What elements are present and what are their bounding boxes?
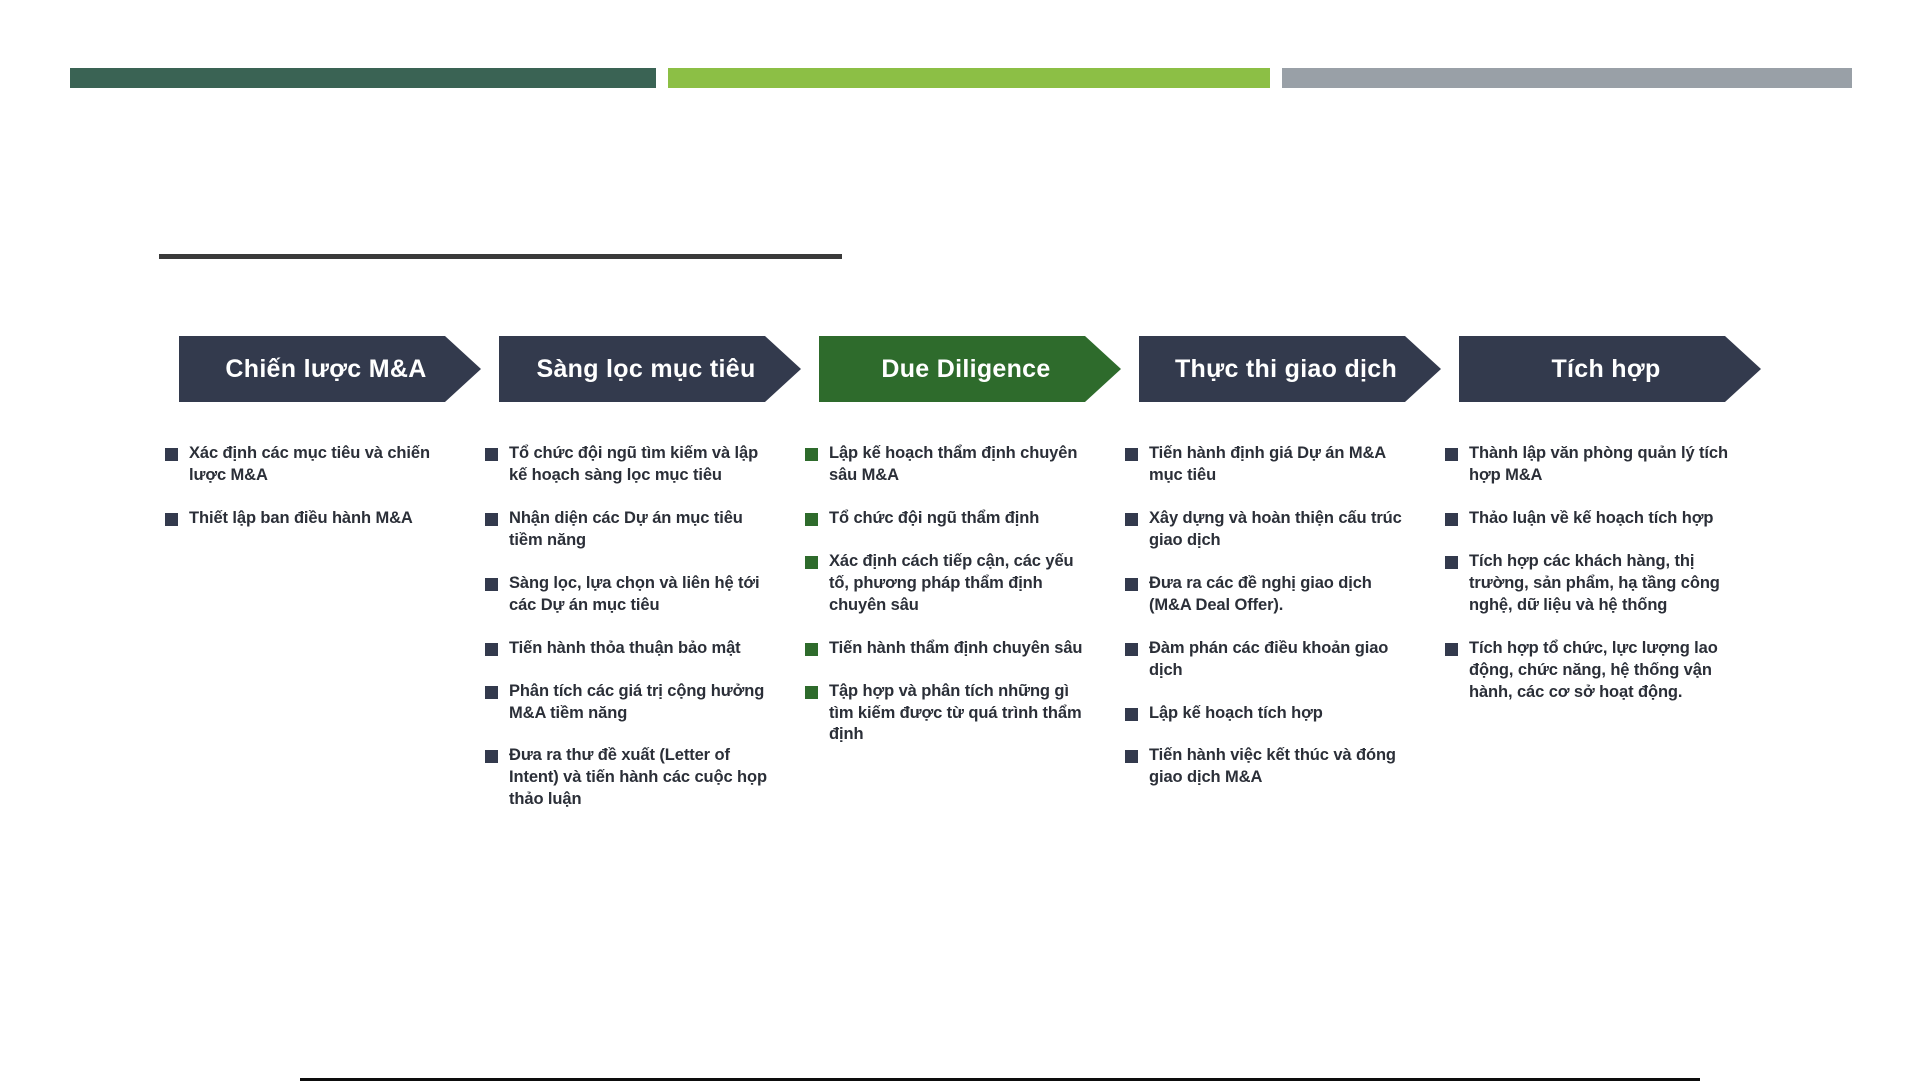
bullet-square-icon [1445, 513, 1458, 526]
bullet-item: Xác định cách tiếp cận, các yếu tố, phươ… [805, 551, 1095, 617]
bullet-item: Thảo luận về kế hoạch tích hợp [1445, 508, 1735, 530]
bullet-square-icon [1125, 643, 1138, 656]
bullet-square-icon [805, 686, 818, 699]
bullet-item-label: Tiến hành thẩm định chuyên sâu [829, 638, 1095, 660]
bullet-square-icon [485, 448, 498, 461]
bullet-item-label: Xác định cách tiếp cận, các yếu tố, phươ… [829, 551, 1095, 617]
process-stage-chevron-0[interactable]: Chiến lược M&A [165, 336, 481, 402]
bullet-column-2: Lập kế hoạch thẩm định chuyên sâu M&ATổ … [805, 443, 1095, 767]
bullet-square-icon [1445, 643, 1458, 656]
bullet-item-label: Tổ chức đội ngũ thẩm định [829, 508, 1095, 530]
bullet-item: Tổ chức đội ngũ tìm kiếm và lập kế hoạch… [485, 443, 775, 487]
bullet-item: Tiến hành thẩm định chuyên sâu [805, 638, 1095, 660]
bullet-item-label: Đưa ra các đề nghị giao dịch (M&A Deal O… [1149, 573, 1415, 617]
process-stage-chevron-row: Chiến lược M&A Sàng lọc mục tiêu Due Dil… [165, 336, 1765, 402]
bullet-square-icon [1125, 448, 1138, 461]
bullet-item-label: Thiết lập ban điều hành M&A [189, 508, 455, 530]
title-underline-rule [159, 254, 842, 259]
bullet-item: Thiết lập ban điều hành M&A [165, 508, 455, 530]
bullet-item: Lập kế hoạch thẩm định chuyên sâu M&A [805, 443, 1095, 487]
bullet-square-icon [485, 513, 498, 526]
bullet-item: Xác định các mục tiêu và chiến lược M&A [165, 443, 455, 487]
bullet-item-label: Phân tích các giá trị cộng hưởng M&A tiề… [509, 681, 775, 725]
bullet-item: Tập hợp và phân tích những gì tìm kiếm đ… [805, 681, 1095, 747]
bullet-square-icon [1445, 448, 1458, 461]
bullet-square-icon [1125, 708, 1138, 721]
bullet-square-icon [805, 643, 818, 656]
bullet-item: Tổ chức đội ngũ thẩm định [805, 508, 1095, 530]
bullet-item: Tiến hành định giá Dự án M&A mục tiêu [1125, 443, 1415, 487]
bullet-item: Đưa ra các đề nghị giao dịch (M&A Deal O… [1125, 573, 1415, 617]
bullet-item-label: Tích hợp tổ chức, lực lượng lao động, ch… [1469, 638, 1735, 704]
dark-green-accent-bar [70, 68, 656, 88]
process-stage-chevron-4[interactable]: Tích hợp [1445, 336, 1761, 402]
bullet-item-label: Nhận diện các Dự án mục tiêu tiềm năng [509, 508, 775, 552]
bullet-column-1: Tổ chức đội ngũ tìm kiếm và lập kế hoạch… [485, 443, 775, 832]
bullet-square-icon [165, 448, 178, 461]
process-stage-label-4: Tích hợp [1545, 355, 1660, 384]
bullet-item: Tiến hành việc kết thúc và đóng giao dịc… [1125, 745, 1415, 789]
bullet-square-icon [165, 513, 178, 526]
bullet-column-3: Tiến hành định giá Dự án M&A mục tiêuXây… [1125, 443, 1415, 810]
bullet-square-icon [805, 448, 818, 461]
bullet-item: Phân tích các giá trị cộng hưởng M&A tiề… [485, 681, 775, 725]
bullet-item-label: Lập kế hoạch tích hợp [1149, 703, 1415, 725]
bullet-item-label: Tích hợp các khách hàng, thị trường, sản… [1469, 551, 1735, 617]
bullet-item-label: Đưa ra thư đề xuất (Letter of Intent) và… [509, 745, 775, 811]
bullet-square-icon [1125, 750, 1138, 763]
bullet-square-icon [485, 750, 498, 763]
process-stage-chevron-1[interactable]: Sàng lọc mục tiêu [485, 336, 801, 402]
light-green-accent-bar [668, 68, 1270, 88]
bullet-square-icon [805, 513, 818, 526]
bullet-item-label: Tổ chức đội ngũ tìm kiếm và lập kế hoạch… [509, 443, 775, 487]
process-stage-label-2: Due Diligence [875, 355, 1050, 384]
bullet-item: Sàng lọc, lựa chọn và liên hệ tới các Dự… [485, 573, 775, 617]
bullet-item: Đàm phán các điều khoản giao dịch [1125, 638, 1415, 682]
top-accent-bar-group [0, 68, 1921, 88]
bullet-item-label: Tiến hành thỏa thuận bảo mật [509, 638, 775, 660]
bullet-item-label: Xác định các mục tiêu và chiến lược M&A [189, 443, 455, 487]
bullet-item-label: Đàm phán các điều khoản giao dịch [1149, 638, 1415, 682]
bullet-item: Nhận diện các Dự án mục tiêu tiềm năng [485, 508, 775, 552]
bullet-item-label: Thảo luận về kế hoạch tích hợp [1469, 508, 1735, 530]
bullet-item-label: Xây dựng và hoàn thiện cấu trúc giao dịc… [1149, 508, 1415, 552]
bullet-square-icon [1125, 513, 1138, 526]
bullet-item: Thành lập văn phòng quản lý tích hợp M&A [1445, 443, 1735, 487]
bullet-item-label: Tiến hành định giá Dự án M&A mục tiêu [1149, 443, 1415, 487]
process-stage-label-0: Chiến lược M&A [219, 355, 426, 384]
bullet-square-icon [1445, 556, 1458, 569]
bullet-item: Xây dựng và hoàn thiện cấu trúc giao dịc… [1125, 508, 1415, 552]
bullet-square-icon [805, 556, 818, 569]
bullet-item-label: Sàng lọc, lựa chọn và liên hệ tới các Dự… [509, 573, 775, 617]
bullet-item: Tiến hành thỏa thuận bảo mật [485, 638, 775, 660]
bullet-item: Tích hợp tổ chức, lực lượng lao động, ch… [1445, 638, 1735, 704]
bullet-square-icon [1125, 578, 1138, 591]
bullet-square-icon [485, 643, 498, 656]
bullet-item-label: Tập hợp và phân tích những gì tìm kiếm đ… [829, 681, 1095, 747]
process-stage-chevron-3[interactable]: Thực thi giao dịch [1125, 336, 1441, 402]
bullet-item: Tích hợp các khách hàng, thị trường, sản… [1445, 551, 1735, 617]
process-detail-columns: Xác định các mục tiêu và chiến lược M&AT… [165, 443, 1785, 863]
bullet-item: Đưa ra thư đề xuất (Letter of Intent) và… [485, 745, 775, 811]
bullet-item-label: Lập kế hoạch thẩm định chuyên sâu M&A [829, 443, 1095, 487]
bullet-item-label: Thành lập văn phòng quản lý tích hợp M&A [1469, 443, 1735, 487]
bullet-square-icon [485, 686, 498, 699]
process-stage-chevron-2[interactable]: Due Diligence [805, 336, 1121, 402]
process-stage-label-3: Thực thi giao dịch [1169, 355, 1397, 384]
bullet-item: Lập kế hoạch tích hợp [1125, 703, 1415, 725]
grey-accent-bar [1282, 68, 1852, 88]
bullet-square-icon [485, 578, 498, 591]
process-stage-label-1: Sàng lọc mục tiêu [530, 355, 755, 384]
bullet-item-label: Tiến hành việc kết thúc và đóng giao dịc… [1149, 745, 1415, 789]
bullet-column-4: Thành lập văn phòng quản lý tích hợp M&A… [1445, 443, 1735, 724]
bullet-column-0: Xác định các mục tiêu và chiến lược M&AT… [165, 443, 455, 551]
